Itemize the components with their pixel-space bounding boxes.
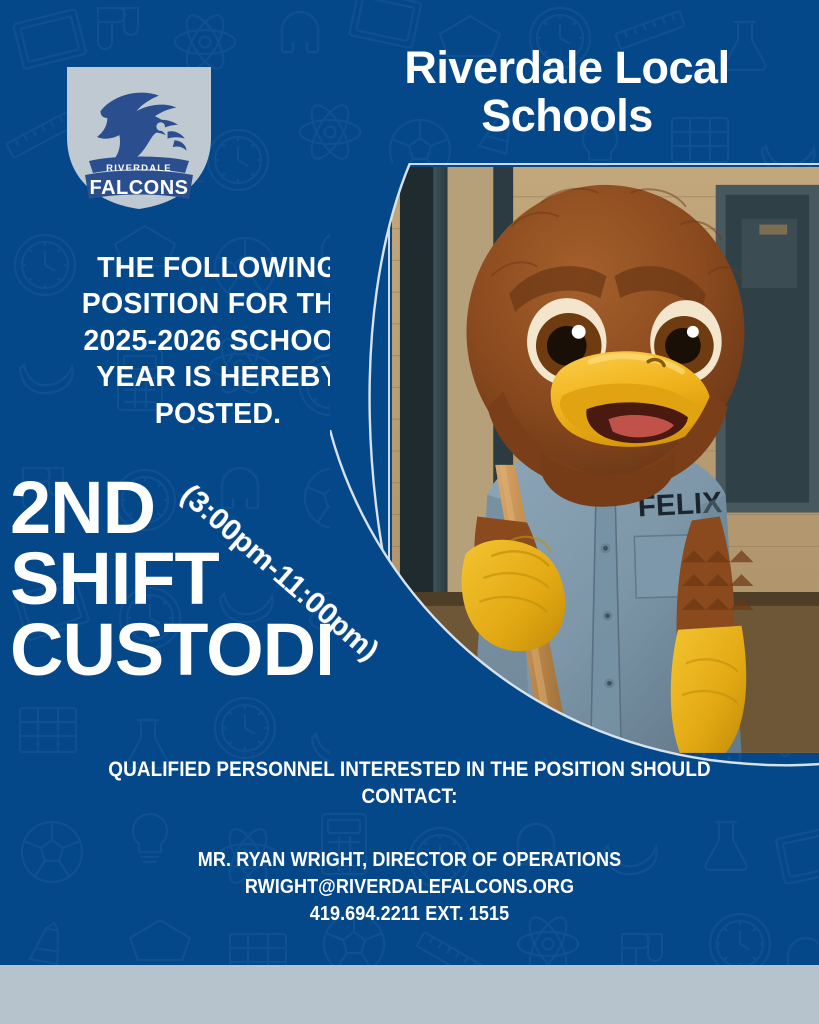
contact-lead-line-1: QUALIFIED PERSONNEL INTERESTED IN THE PO… — [102, 756, 717, 783]
notice-line-5: POSTED. — [28, 396, 408, 432]
contact-details: MR. RYAN WRIGHT, DIRECTOR OF OPERATIONS … — [0, 846, 819, 927]
job-posting-poster: FELIX — [0, 0, 819, 1024]
school-title-line-1: Riverdale Local — [352, 44, 782, 92]
mascot-custodian-photo: FELIX — [392, 167, 819, 757]
contact-name-title: MR. RYAN WRIGHT, DIRECTOR OF OPERATIONS — [49, 846, 770, 873]
contact-section: QUALIFIED PERSONNEL INTERESTED IN THE PO… — [0, 756, 819, 927]
page-title: Riverdale Local Schools — [352, 44, 782, 139]
contact-email[interactable]: RWIGHT@RIVERDALEFALCONS.ORG — [49, 873, 770, 900]
logo-wordmark-main: FALCONS — [89, 177, 188, 199]
notice-line-2: POSITION FOR THE — [28, 286, 408, 322]
position-line-2: SHIFT — [10, 543, 440, 614]
riverdale-falcons-logo: RIVERDALE FALCONS ™ — [63, 63, 215, 211]
notice-line-1: THE FOLLOWING — [28, 250, 408, 286]
bottom-accent-strip — [0, 965, 819, 1024]
notice-line-3: 2025-2026 SCHOOL — [28, 323, 408, 359]
posting-notice: THE FOLLOWING POSITION FOR THE 2025-2026… — [28, 250, 408, 432]
notice-line-4: YEAR IS HEREBY — [28, 359, 408, 395]
school-title-line-2: Schools — [352, 92, 782, 140]
contact-lead-line-2: CONTACT: — [102, 783, 717, 810]
logo-trademark: ™ — [197, 180, 204, 187]
contact-phone[interactable]: 419.694.2211 EXT. 1515 — [49, 900, 770, 927]
contact-lead: QUALIFIED PERSONNEL INTERESTED IN THE PO… — [0, 756, 819, 810]
